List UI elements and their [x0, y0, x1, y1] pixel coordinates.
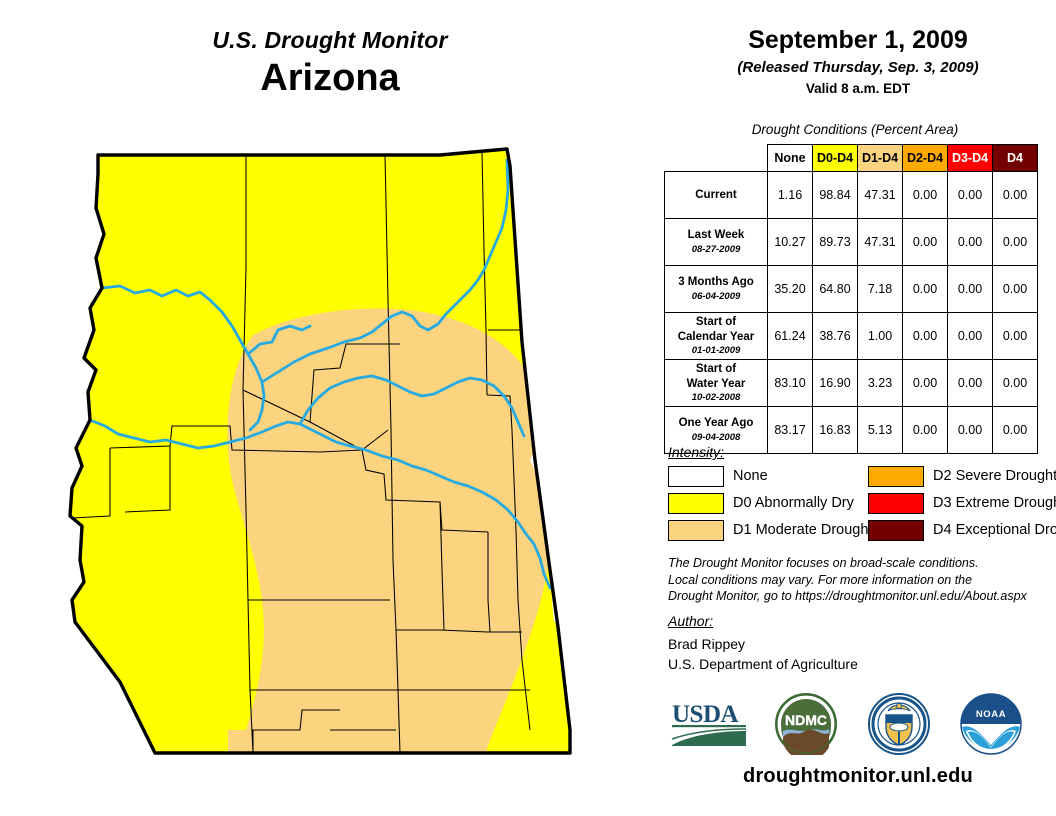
table-row: Current1.1698.8447.310.000.000.00	[665, 172, 1038, 219]
legend-label-d4: D4 Exceptional Drought	[933, 522, 1056, 538]
col-header-d1: D1-D4	[858, 145, 903, 172]
table-corner-cell	[665, 145, 768, 172]
table-cell-d2-d4: 0.00	[903, 172, 948, 219]
table-cell-d0-d4: 64.80	[813, 266, 858, 313]
col-header-d4: D4	[993, 145, 1038, 172]
table-cell-d2-d4: 0.00	[903, 219, 948, 266]
table-cell-d3-d4: 0.00	[948, 172, 993, 219]
usda-logo[interactable]: USDA	[670, 698, 748, 750]
row-label: 3 Months Ago06-04-2009	[665, 266, 768, 313]
table-cell-d1-d4: 3.23	[858, 360, 903, 407]
disclaimer-text: The Drought Monitor focuses on broad-sca…	[668, 555, 1056, 605]
table-cell-d4: 0.00	[993, 266, 1038, 313]
table-cell-d1-d4: 7.18	[858, 266, 903, 313]
table-cell-d3-d4: 0.00	[948, 407, 993, 454]
map-svg	[10, 130, 655, 790]
legend-label-d3: D3 Extreme Drought	[933, 495, 1056, 511]
legend-swatch-d2	[868, 466, 924, 487]
disclaimer-line-3: Drought Monitor, go to https://droughtmo…	[668, 588, 1056, 605]
col-header-d2: D2-D4	[903, 145, 948, 172]
table-cell-d0-d4: 98.84	[813, 172, 858, 219]
row-label: Start ofCalendar Year01-01-2009	[665, 313, 768, 360]
header-block: September 1, 2009 (Released Thursday, Se…	[660, 26, 1056, 96]
table-cell-none: 83.10	[768, 360, 813, 407]
legend-swatch-d1	[668, 520, 724, 541]
legend-swatch-d3	[868, 493, 924, 514]
table-cell-none: 1.16	[768, 172, 813, 219]
table-cell-d4: 0.00	[993, 313, 1038, 360]
table-cell-d2-d4: 0.00	[903, 360, 948, 407]
intensity-heading: Intensity:	[668, 444, 724, 460]
header-valid: Valid 8 a.m. EDT	[660, 81, 1056, 96]
legend-item-d3: D3 Extreme Drought	[868, 491, 1056, 515]
table-cell-none: 35.20	[768, 266, 813, 313]
table-row: Last Week08-27-200910.2789.7347.310.000.…	[665, 219, 1038, 266]
legend-label-d1: D1 Moderate Drought	[733, 522, 872, 538]
drought-conditions-table: None D0-D4 D1-D4 D2-D4 D3-D4 D4 Current1…	[664, 144, 1038, 454]
row-date: 09-04-2008	[665, 432, 767, 444]
table-cell-d4: 0.00	[993, 407, 1038, 454]
legend-swatch-none	[668, 466, 724, 487]
table-cell-d2-d4: 0.00	[903, 313, 948, 360]
legend-item-d0: D0 Abnormally Dry	[668, 491, 872, 515]
legend-label-d2: D2 Severe Drought	[933, 468, 1056, 484]
author-org: U.S. Department of Agriculture	[668, 654, 858, 674]
table-cell-d4: 0.00	[993, 360, 1038, 407]
table-row: Start ofCalendar Year01-01-200961.2438.7…	[665, 313, 1038, 360]
table-cell-d3-d4: 0.00	[948, 360, 993, 407]
table-cell-d3-d4: 0.00	[948, 266, 993, 313]
map-title-line2: Arizona	[0, 57, 660, 101]
col-header-d0: D0-D4	[813, 145, 858, 172]
table-row: Start ofWater Year10-02-200883.1016.903.…	[665, 360, 1038, 407]
col-header-none: None	[768, 145, 813, 172]
disclaimer-line-1: The Drought Monitor focuses on broad-sca…	[668, 555, 1056, 572]
map-title-line1: U.S. Drought Monitor	[0, 28, 660, 53]
table-cell-d1-d4: 1.00	[858, 313, 903, 360]
usdc-seal[interactable]	[868, 693, 930, 755]
arizona-drought-map[interactable]	[10, 130, 655, 790]
svg-text:NDMC: NDMC	[785, 712, 827, 728]
header-released: (Released Thursday, Sep. 3, 2009)	[660, 59, 1056, 76]
drought-monitor-page: U.S. Drought Monitor Arizona	[0, 0, 1056, 816]
row-label: Current	[665, 172, 768, 219]
table-cell-d1-d4: 47.31	[858, 172, 903, 219]
legend-swatch-d0	[668, 493, 724, 514]
legend-item-d1: D1 Moderate Drought	[668, 518, 872, 542]
drought-conditions-table-wrap: None D0-D4 D1-D4 D2-D4 D3-D4 D4 Current1…	[664, 144, 1038, 454]
row-date: 10-02-2008	[665, 392, 767, 404]
row-date: 08-27-2009	[665, 244, 767, 256]
table-cell-d2-d4: 0.00	[903, 266, 948, 313]
row-date: 06-04-2009	[665, 291, 767, 303]
author-heading: Author:	[668, 613, 713, 629]
disclaimer-line-2: Local conditions may vary. For more info…	[668, 572, 1056, 589]
table-cell-d4: 0.00	[993, 172, 1038, 219]
website-url[interactable]: droughtmonitor.unl.edu	[660, 765, 1056, 788]
table-cell-none: 83.17	[768, 407, 813, 454]
row-date: 01-01-2009	[665, 345, 767, 357]
row-label: Last Week08-27-2009	[665, 219, 768, 266]
row-label: Start ofWater Year10-02-2008	[665, 360, 768, 407]
table-cell-d0-d4: 16.83	[813, 407, 858, 454]
table-cell-d1-d4: 5.13	[858, 407, 903, 454]
table-cell-d0-d4: 38.76	[813, 313, 858, 360]
legend-item-d2: D2 Severe Drought	[868, 464, 1056, 488]
ndmc-logo[interactable]: NDMC	[775, 693, 837, 755]
table-body: Current1.1698.8447.310.000.000.00Last We…	[665, 172, 1038, 454]
table-header-row: None D0-D4 D1-D4 D2-D4 D3-D4 D4	[665, 145, 1038, 172]
table-cell-d2-d4: 0.00	[903, 407, 948, 454]
map-panel: U.S. Drought Monitor Arizona	[0, 0, 660, 816]
svg-text:USDA: USDA	[672, 701, 739, 728]
author-block: Brad Rippey U.S. Department of Agricultu…	[668, 634, 858, 675]
header-date: September 1, 2009	[660, 26, 1056, 55]
table-cell-none: 10.27	[768, 219, 813, 266]
legend-swatch-d4	[868, 520, 924, 541]
table-cell-d0-d4: 16.90	[813, 360, 858, 407]
legend-item-none: None	[668, 464, 872, 488]
table-cell-d3-d4: 0.00	[948, 313, 993, 360]
table-row: 3 Months Ago06-04-200935.2064.807.180.00…	[665, 266, 1038, 313]
legend-label-d0: D0 Abnormally Dry	[733, 495, 854, 511]
map-title-block: U.S. Drought Monitor Arizona	[0, 28, 660, 101]
table-cell-d4: 0.00	[993, 219, 1038, 266]
table-cell-none: 61.24	[768, 313, 813, 360]
noaa-logo[interactable]: NOAA	[960, 693, 1022, 755]
author-name: Brad Rippey	[668, 634, 858, 654]
legend-column-left: NoneD0 Abnormally DryD1 Moderate Drought	[668, 464, 872, 545]
table-cell-d1-d4: 47.31	[858, 219, 903, 266]
table-cell-d0-d4: 89.73	[813, 219, 858, 266]
col-header-d3: D3-D4	[948, 145, 993, 172]
logos-row: USDA NDMC	[660, 690, 1056, 760]
table-cell-d3-d4: 0.00	[948, 219, 993, 266]
legend-item-d4: D4 Exceptional Drought	[868, 518, 1056, 542]
svg-text:NOAA: NOAA	[976, 709, 1006, 720]
legend-column-right: D2 Severe DroughtD3 Extreme DroughtD4 Ex…	[868, 464, 1056, 545]
info-panel: September 1, 2009 (Released Thursday, Se…	[660, 0, 1056, 816]
legend-label-none: None	[733, 468, 768, 484]
map-fill-layer	[10, 130, 655, 790]
table-caption: Drought Conditions (Percent Area)	[660, 122, 1050, 137]
